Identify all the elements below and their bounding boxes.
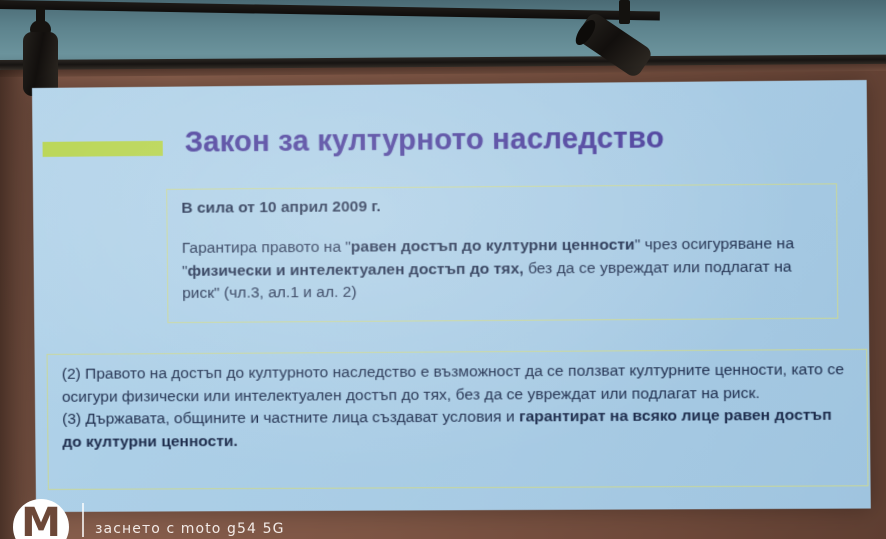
law-summary-box: В сила от 10 април 2009 г. Гарантира пра…: [166, 183, 838, 323]
guarantee-paragraph: Гарантира правото на "равен достъп до ку…: [182, 233, 823, 306]
photo-scene: Закон за културното наследство В сила от…: [0, 0, 886, 539]
law-articles-box: (2) Правото на достъп до културното насл…: [47, 349, 869, 490]
article-paragraph-2: (2) Правото на достъп до културното насл…: [62, 359, 853, 409]
article-paragraph-3: (3) Държавата, общините и частните лица …: [62, 405, 853, 454]
guarantee-bold2: физически и интелектуален достъп до тях,: [187, 260, 523, 280]
guarantee-bold1: равен достъп до културни ценности: [351, 236, 635, 255]
guarantee-part1: Гарантира правото на ": [182, 239, 351, 257]
projected-slide: Закон за културното наследство В сила от…: [32, 80, 871, 512]
title-accent-bar: [43, 141, 163, 157]
effective-date-text: В сила от 10 април 2009 г.: [181, 195, 822, 218]
lamp-body: [23, 32, 58, 96]
track-light-fixture-right-icon: [577, 0, 663, 70]
page-title: Закон за културното наследство: [185, 122, 665, 159]
track-light-fixture-left-icon: [14, 6, 74, 98]
lamp-stem: [619, 0, 630, 24]
para3-part1: (3) Държавата, общините и частните лица …: [62, 408, 519, 428]
